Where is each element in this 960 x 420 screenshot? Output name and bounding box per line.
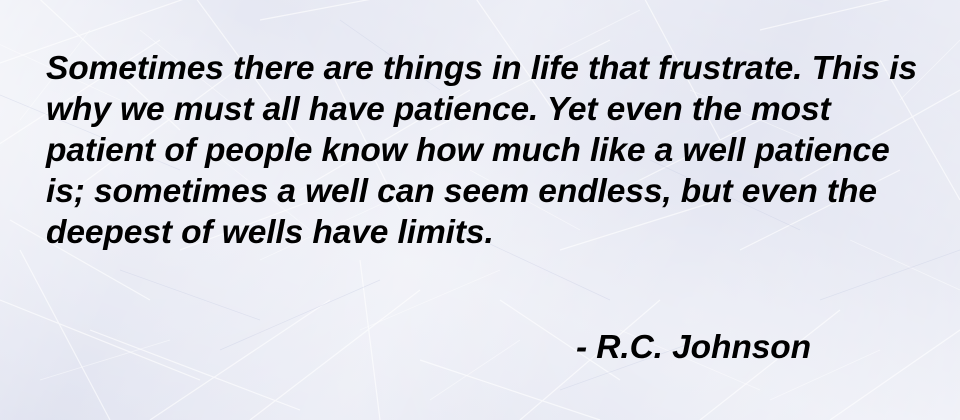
quote-attribution: - R.C. Johnson	[576, 327, 811, 368]
quote-card: Sometimes there are things in life that …	[0, 0, 960, 420]
quote-content: Sometimes there are things in life that …	[0, 0, 960, 420]
quote-body-text: Sometimes there are things in life that …	[46, 48, 926, 253]
